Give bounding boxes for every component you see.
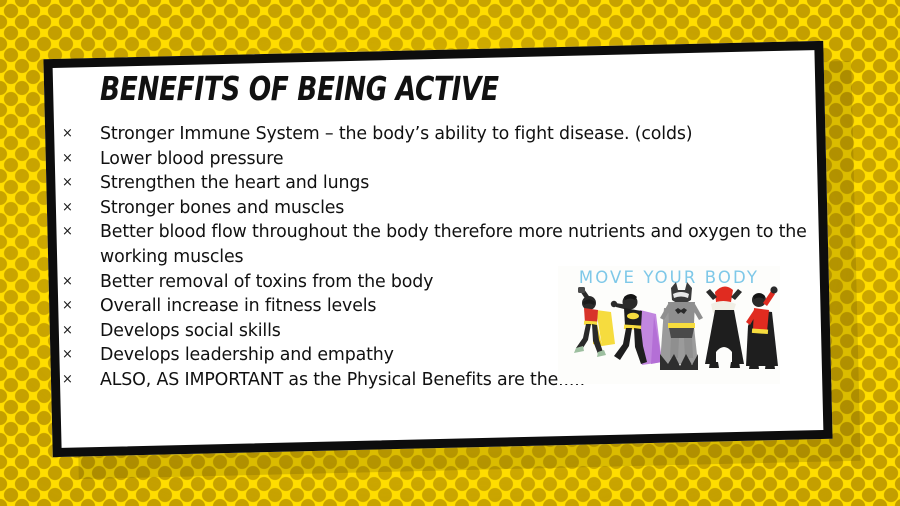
figure-dark-hero-red-hood [705, 286, 744, 368]
slide-canvas: BENEFITS OF BEING ACTIVE × Stronger Immu… [0, 0, 900, 506]
bullet-marker-icon: × [62, 294, 100, 319]
page-title: BENEFITS OF BEING ACTIVE [100, 72, 499, 105]
move-your-body-image: MOVE YOUR BODY [558, 266, 780, 384]
list-item-label: Lower blood pressure [100, 147, 812, 172]
bullet-marker-icon: × [62, 319, 100, 344]
list-item-label: Better blood flow throughout the body th… [100, 220, 812, 269]
bullet-marker-icon: × [62, 220, 100, 245]
bullet-marker-icon: × [62, 147, 100, 172]
card-content-clip: BENEFITS OF BEING ACTIVE × Stronger Immu… [43, 41, 832, 457]
bullet-marker-icon: × [62, 171, 100, 196]
superheroes-illustration [558, 266, 780, 384]
list-item: × Stronger bones and muscles [62, 196, 832, 221]
figure-batman [660, 282, 703, 370]
bullet-marker-icon: × [62, 368, 100, 393]
card-content: BENEFITS OF BEING ACTIVE × Stronger Immu… [48, 50, 828, 448]
figure-caped-hero-purple [611, 294, 662, 365]
figure-dark-hero-red-cape [746, 286, 778, 369]
list-item: × Better blood flow throughout the body … [62, 220, 832, 269]
list-item-label: Stronger Immune System – the body’s abil… [100, 122, 812, 147]
bullet-marker-icon: × [62, 343, 100, 368]
figure-robin [574, 287, 615, 357]
bullet-marker-icon: × [62, 122, 100, 147]
list-item: × Lower blood pressure [62, 147, 832, 172]
list-item: × Stronger Immune System – the body’s ab… [62, 122, 832, 147]
list-item-label: Strengthen the heart and lungs [100, 171, 812, 196]
list-item-label: Stronger bones and muscles [100, 196, 812, 221]
bullet-marker-icon: × [62, 270, 100, 295]
bullet-marker-icon: × [62, 196, 100, 221]
list-item: × Strengthen the heart and lungs [62, 171, 832, 196]
